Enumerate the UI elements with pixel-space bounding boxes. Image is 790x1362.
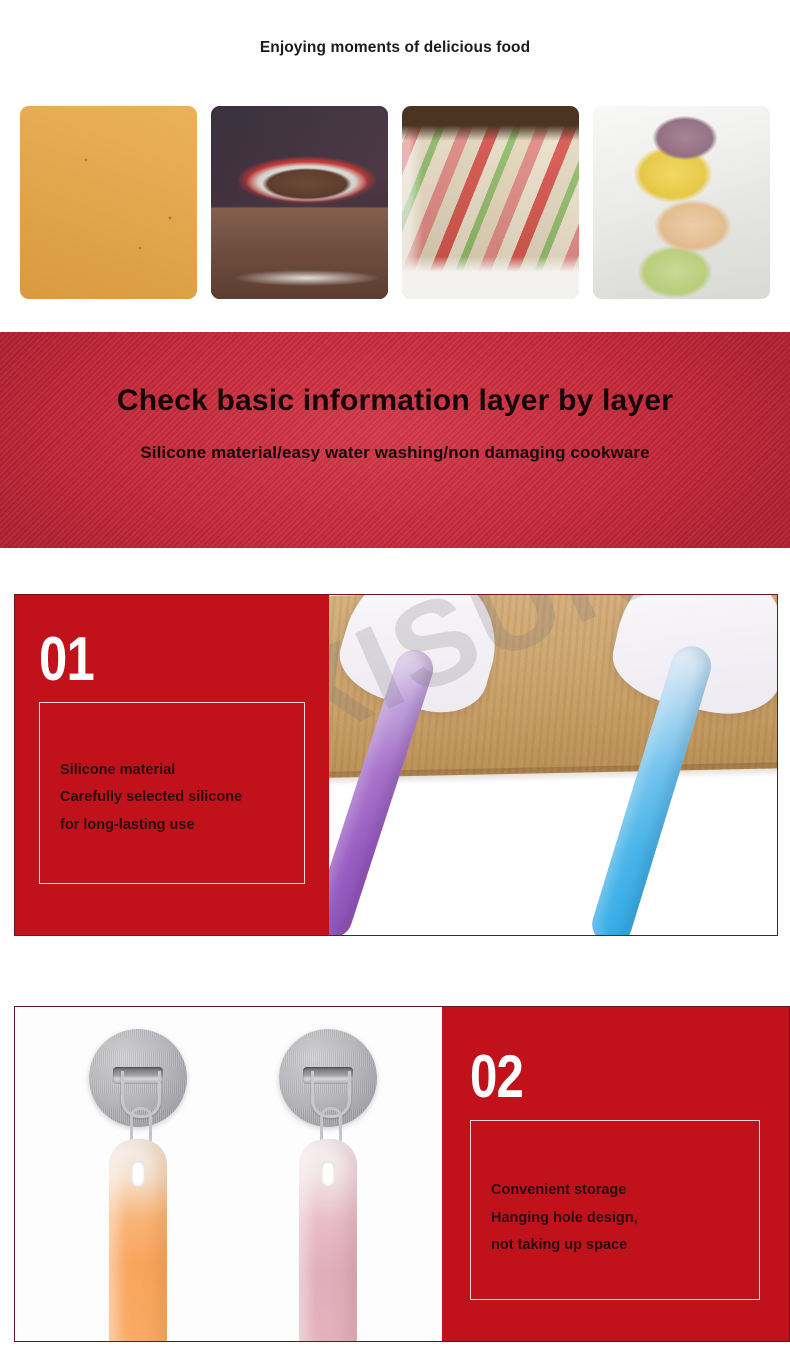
- info-banner: Check basic information layer by layer S…: [0, 332, 790, 548]
- feature-02-number: 02: [470, 1051, 709, 1104]
- hanging-hook-scene: [15, 1007, 442, 1341]
- feature-02-photo: [15, 1007, 442, 1341]
- feature-01-photo: XISUN: [329, 595, 777, 935]
- feature-01-line-1: Silicone material: [60, 757, 304, 785]
- feature-02-line-2: Hanging hole design,: [491, 1205, 759, 1233]
- chocolate-cake-photo: [211, 106, 388, 299]
- feature-02-textbox: Convenient storage Hanging hole design, …: [470, 1120, 760, 1300]
- page-header: Enjoying moments of delicious food: [0, 0, 790, 96]
- gallery-item[interactable]: [402, 106, 579, 299]
- macaron-photo: [593, 106, 770, 299]
- hanging-hole: [321, 1161, 335, 1187]
- feature-section-02: 02 Convenient storage Hanging hole desig…: [14, 1006, 790, 1342]
- silicone-spatula-scene: XISUN: [329, 595, 777, 935]
- feature-02-line-3: not taking up space: [491, 1232, 759, 1260]
- feature-01-textbox: Silicone material Carefully selected sil…: [39, 702, 305, 884]
- food-gallery: [20, 106, 770, 299]
- feature-01-line-2: Carefully selected silicone: [60, 784, 304, 812]
- feature-section-01: 01 Silicone material Carefully selected …: [14, 594, 778, 936]
- gallery-item[interactable]: [593, 106, 770, 299]
- feature-01-number: 01: [39, 633, 257, 688]
- orange-spatula-handle: [109, 1139, 167, 1341]
- feature-01-panel: 01 Silicone material Carefully selected …: [15, 595, 329, 935]
- banner-title: Check basic information layer by layer: [117, 384, 673, 418]
- hanging-hole: [131, 1161, 145, 1187]
- pastry-plate-photo: [20, 106, 197, 299]
- feature-02-line-1: Convenient storage: [491, 1177, 759, 1205]
- gallery-item[interactable]: [20, 106, 197, 299]
- club-sandwich-photo: [402, 106, 579, 299]
- feature-02-panel: 02 Convenient storage Hanging hole desig…: [442, 1007, 789, 1341]
- gallery-item[interactable]: [211, 106, 388, 299]
- page-title: Enjoying moments of delicious food: [260, 39, 530, 57]
- pink-spatula-handle: [299, 1139, 357, 1341]
- banner-subtitle: Silicone material/easy water washing/non…: [140, 443, 649, 463]
- feature-01-line-3: for long-lasting use: [60, 812, 304, 840]
